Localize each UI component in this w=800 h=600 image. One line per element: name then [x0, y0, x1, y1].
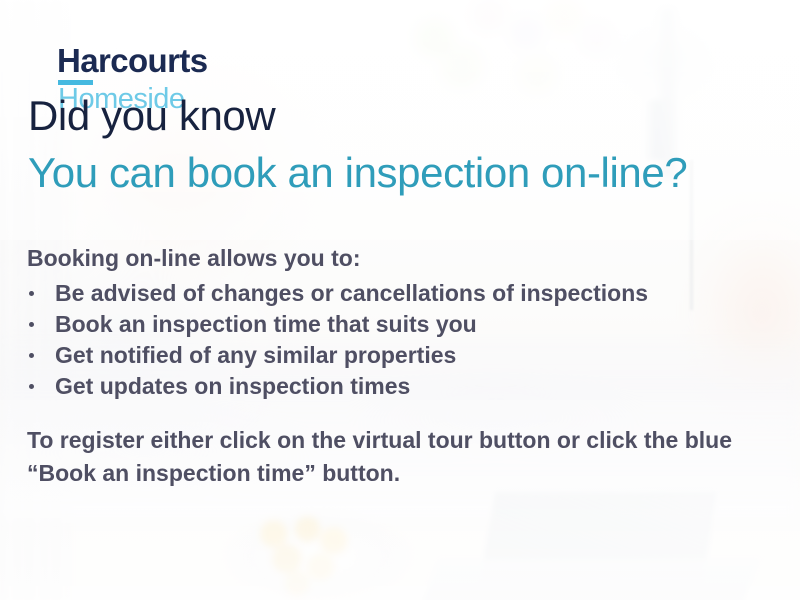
slide-content: Harcourts Homeside Did you know You can … — [0, 0, 800, 600]
list-item: Get updates on inspection times — [27, 371, 767, 402]
body-copy: Booking on-line allows you to: Be advise… — [27, 243, 767, 402]
closing-line-1: To register either click on the virtual … — [27, 424, 747, 457]
benefits-list: Be advised of changes or cancellations o… — [27, 278, 767, 402]
bullet-dot-icon — [29, 322, 34, 327]
closing-instructions: To register either click on the virtual … — [27, 424, 747, 490]
bullet-dot-icon — [29, 384, 34, 389]
closing-line-2: “Book an inspection time” button. — [27, 457, 747, 490]
brand-name: Harcourts — [57, 44, 277, 78]
headline-primary: Did you know — [28, 93, 275, 139]
headline-secondary: You can book an inspection on-line? — [28, 150, 687, 196]
bullet-dot-icon — [29, 291, 34, 296]
body-lead-text: Booking on-line allows you to: — [27, 243, 767, 274]
list-item-label: Book an inspection time that suits you — [55, 311, 477, 337]
promotional-slide: Harcourts Homeside Did you know You can … — [0, 0, 800, 600]
harcourts-logo: Harcourts Homeside — [57, 44, 277, 78]
list-item: Get notified of any similar properties — [27, 340, 767, 371]
list-item-label: Get updates on inspection times — [55, 373, 410, 399]
bullet-dot-icon — [29, 353, 34, 358]
list-item-label: Get notified of any similar properties — [55, 342, 456, 368]
list-item: Book an inspection time that suits you — [27, 309, 767, 340]
list-item-label: Be advised of changes or cancellations o… — [55, 280, 648, 306]
list-item: Be advised of changes or cancellations o… — [27, 278, 767, 309]
